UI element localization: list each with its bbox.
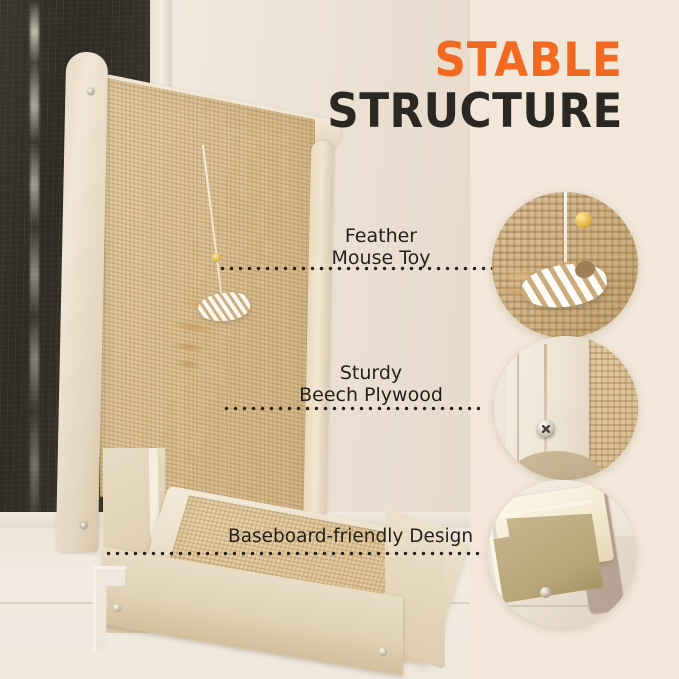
detail-ply-groove xyxy=(517,340,519,472)
detail-circle-baseboard-friendly-design xyxy=(488,480,636,628)
callout-label-line-2: Beech Plywood xyxy=(266,384,476,406)
detail-sisal-panel xyxy=(583,336,638,480)
leader-line-baseboard-friendly-design xyxy=(104,551,484,556)
callout-label-line-1: Baseboard-friendly Design xyxy=(228,526,490,548)
callout-label-feather-mouse-toy: Feather Mouse Toy xyxy=(276,225,486,270)
screw-icon xyxy=(80,522,87,529)
callout-label-sturdy-beech-plywood: Sturdy Beech Plywood xyxy=(266,362,476,407)
callout-label-line-2: Mouse Toy xyxy=(276,247,486,269)
detail-circle-sturdy-beech-plywood xyxy=(494,336,638,480)
detail-circle-feather-mouse-toy xyxy=(492,192,638,338)
detail-floor-line xyxy=(488,605,636,607)
screw-icon xyxy=(540,587,551,598)
bell-icon xyxy=(212,253,221,262)
callout-label-baseboard-friendly-design: Baseboard-friendly Design xyxy=(228,526,490,548)
callout-label-line-1: Feather xyxy=(276,225,486,247)
screw-icon xyxy=(87,88,94,95)
callout-label-line-1: Sturdy xyxy=(266,362,476,384)
detail-toy-string xyxy=(564,192,567,262)
infographic-canvas: STABLE STRUCTURE Feather Mouse Toy Sturd… xyxy=(0,0,679,679)
headline-line-1: STABLE xyxy=(327,38,623,84)
headline-line-2: STRUCTURE xyxy=(327,88,623,135)
baseboard-notch-outline xyxy=(93,566,127,652)
screw-icon xyxy=(379,648,387,656)
detail-ply-round-edge xyxy=(544,344,547,470)
headline: STABLE STRUCTURE xyxy=(305,38,623,135)
glass-highlight-streak xyxy=(30,0,39,528)
screw-icon xyxy=(537,420,555,438)
